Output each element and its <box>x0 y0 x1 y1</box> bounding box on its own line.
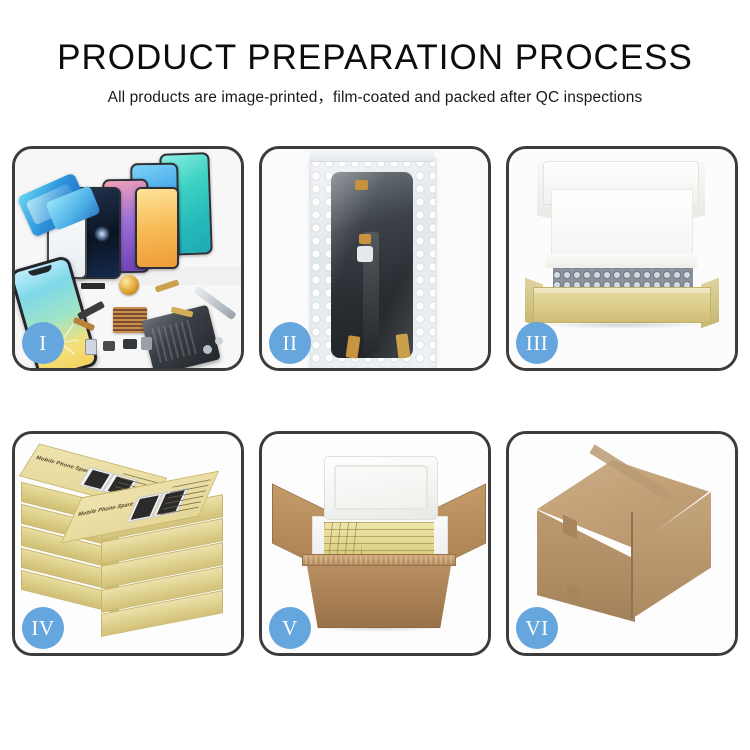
box-front-panel <box>533 287 711 323</box>
step-badge-5: V <box>269 607 311 649</box>
process-step-card-4[interactable]: Mobile Phone Spare Parts Mobile Phone Sp… <box>12 431 244 656</box>
carton-top-rim <box>302 554 456 566</box>
step-badge-2: II <box>269 322 311 364</box>
carton-front-panel <box>306 560 452 628</box>
step-badge-3: III <box>516 322 558 364</box>
phone-orange <box>135 187 179 269</box>
step-badge-6: VI <box>516 607 558 649</box>
gold-component <box>119 275 139 295</box>
screw-b <box>215 337 223 345</box>
carton-front-edge <box>631 512 633 618</box>
process-step-card-6[interactable]: VI <box>506 431 738 656</box>
component-d <box>141 337 152 350</box>
process-step-grid: I II <box>12 146 738 726</box>
tape-a <box>355 180 368 190</box>
bubble-wrap-bag <box>310 157 436 368</box>
page-title: PRODUCT PREPARATION PROCESS <box>0 38 750 78</box>
foam-top-edge <box>545 254 697 268</box>
screw-a <box>203 345 212 354</box>
page-subtitle: All products are image-printed，film-coat… <box>0 87 750 109</box>
bag-seal-strip <box>310 149 434 162</box>
chip-grid-component <box>113 307 147 333</box>
styrofoam-lid <box>324 456 438 520</box>
step-badge-1: I <box>22 322 64 364</box>
process-step-card-5[interactable]: V <box>259 431 491 656</box>
footer-spacer <box>0 726 750 750</box>
component-b <box>103 341 115 351</box>
component-c <box>123 339 137 349</box>
tape-b <box>359 234 371 244</box>
step-badge-4: IV <box>22 607 64 649</box>
connector-pad <box>357 246 373 262</box>
box-shadow <box>541 321 703 329</box>
white-foam-sheet <box>551 189 693 261</box>
small-part-strip <box>81 283 105 289</box>
header: PRODUCT PREPARATION PROCESS All products… <box>0 0 750 109</box>
process-step-card-2[interactable]: II <box>259 146 491 371</box>
process-step-card-1[interactable]: I <box>12 146 244 371</box>
process-step-card-3[interactable]: III <box>506 146 738 371</box>
component-a <box>85 339 97 355</box>
